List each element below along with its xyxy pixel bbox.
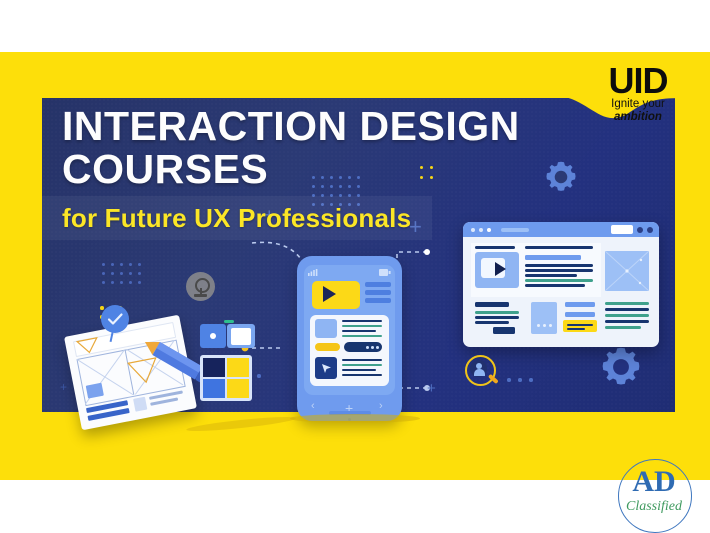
swatch-dot <box>210 333 216 339</box>
location-pin-head <box>195 278 210 293</box>
headline-line-2: COURSES <box>62 148 582 191</box>
cta-button[interactable] <box>563 320 597 332</box>
poster-canvas: + + + + INTERACTION DESIGN COURSES for F… <box>0 0 710 530</box>
play-icon[interactable] <box>323 286 336 302</box>
palette-color-1 <box>227 358 249 377</box>
browser-address-bar[interactable] <box>501 228 529 232</box>
palette-color-2 <box>203 379 225 398</box>
swatch-blue <box>200 324 226 348</box>
watermark-initials: AD <box>622 465 686 499</box>
browser-search-field[interactable] <box>611 225 633 234</box>
plus-icon: + <box>60 378 67 396</box>
nav-next-button[interactable]: › <box>379 400 383 412</box>
brand-tagline-line-2: ambition <box>588 111 688 124</box>
headline-line-1: INTERACTION DESIGN <box>62 105 582 148</box>
ad-classified-watermark: AD Classified <box>608 459 704 529</box>
ui-component-swatches <box>200 324 256 348</box>
battery-icon <box>379 269 391 276</box>
phone-screen <box>304 265 395 395</box>
phone-shadow <box>290 414 420 423</box>
brand-tagline-line-1: Ignite your <box>588 98 688 111</box>
gear-icon <box>597 343 645 391</box>
signal-bars-icon <box>308 269 318 276</box>
page-subtitle: for Future UX Professionals <box>62 203 411 234</box>
palette-color-3 <box>227 379 249 398</box>
play-icon <box>495 262 506 276</box>
checkmark-badge-icon <box>101 305 129 333</box>
watermark-label: Classified <box>616 499 692 515</box>
smartphone-mockup[interactable]: ‹ + › <box>297 256 402 421</box>
sketch-arrow-icon <box>75 334 104 357</box>
swatch-inner-white <box>231 328 251 345</box>
brand-logo: UID Ignite your ambition <box>588 64 688 124</box>
plus-icon: + <box>427 380 436 398</box>
color-palette-grid <box>200 355 252 401</box>
image-placeholder-cross-icon <box>605 251 649 291</box>
nav-prev-button[interactable]: ‹ <box>311 400 315 412</box>
page-title: INTERACTION DESIGN COURSES <box>62 105 582 191</box>
video-card[interactable] <box>312 281 360 309</box>
location-pin-base <box>194 294 207 297</box>
cursor-icon <box>322 364 331 373</box>
browser-window-mockup[interactable] <box>463 222 659 347</box>
user-body-icon <box>474 369 485 376</box>
palette-color-0 <box>203 358 225 377</box>
brand-mark: UID <box>588 64 688 98</box>
browser-title-bar <box>463 222 659 237</box>
phone-notch <box>333 257 355 262</box>
swatch-accent <box>224 320 234 323</box>
dot-grid-icon <box>102 263 147 290</box>
